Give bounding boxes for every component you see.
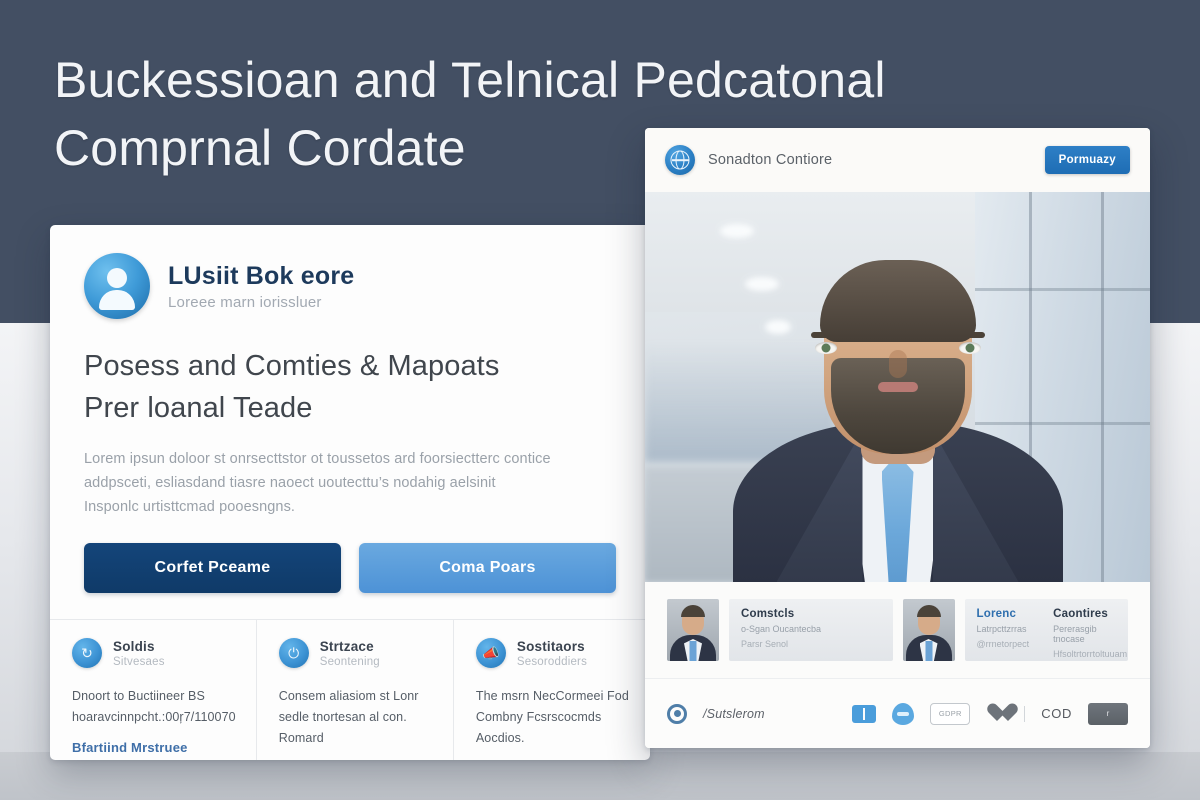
dark-button-icon[interactable]: r (1088, 703, 1128, 725)
card-body-line-2: addpsceti, esliasdand tiasre naoect uout… (84, 471, 616, 495)
feature-strip: ↻ Soldis Sitvesaes Dnoort to Buctiineer … (50, 619, 650, 760)
preview-cta-button[interactable]: Pormuazy (1045, 146, 1130, 174)
user-avatar-icon (84, 253, 150, 319)
feature-subtitle: Sitvesaes (113, 656, 165, 668)
thumbnail-line-2: @rrnetorpect (977, 639, 1030, 649)
feature-title: Soldis (113, 639, 165, 654)
feature-subtitle: Sesoroddiers (517, 656, 587, 668)
card-heading-line-2: Prer loanal Teade (84, 387, 616, 429)
thumbnail-title: Comstcls (741, 608, 881, 620)
profile-name: LUsiit Bok eore (168, 262, 354, 291)
thumbnail-line-1: Latrpcttzrras (977, 624, 1030, 634)
feature-text-line-2: Combny Fcsrscocmds Aocdios. (476, 707, 630, 749)
thumbnail-title: Lorenc (977, 608, 1030, 620)
primary-action-button[interactable]: Corfet Pceame (84, 543, 341, 593)
feature-title: Strtzace (320, 639, 380, 654)
page-stage: Buckessioan and Telnical Pedcatonal Comp… (0, 0, 1200, 800)
profile-header: LUsiit Bok eore Loreee marn iorissluer (84, 253, 616, 319)
power-circle-icon: ⏻ (279, 638, 309, 668)
left-content-card: LUsiit Bok eore Loreee marn iorissluer P… (50, 225, 650, 760)
preview-brand-label: Sonadton Contiore (708, 152, 832, 168)
feature-text-line-1: Dnoort to Buctiineer BS (72, 686, 236, 707)
preview-footer-bar: /Sutslerom GDPR COD r (645, 678, 1150, 748)
footer-divider (1024, 706, 1025, 722)
thumbnail-line-1: Pererasgib tnocase (1053, 624, 1127, 644)
card-heading-line-1: Posess and Comties & Mapoats (84, 345, 616, 387)
feature-text-line-2: sedle tnortesan al con. Romard (279, 707, 433, 749)
thumbnail-title: Caontires (1053, 608, 1127, 620)
preview-topbar: Sonadton Contiore Pormuazy (645, 128, 1150, 192)
businessman-portrait-photo (645, 192, 1150, 582)
location-pin-icon[interactable] (667, 704, 687, 724)
secondary-action-button[interactable]: Coma Poars (359, 543, 616, 593)
heart-icon[interactable] (986, 704, 1008, 724)
portrait-subject (733, 242, 1063, 582)
hero-heading-line-1: Buckessioan and Telnical Pedcatonal (54, 46, 1054, 114)
feature-item-soldis[interactable]: ↻ Soldis Sitvesaes Dnoort to Buctiineer … (50, 620, 256, 760)
feature-text: Dnoort to Buctiineer BS hoaravcinnpcht.:… (72, 686, 236, 728)
footer-location-label: /Sutslerom (703, 707, 765, 721)
profile-subtitle: Loreee marn iorissluer (168, 294, 354, 311)
thumbnail-line-2: Parsr Senol (741, 639, 881, 649)
drop-badge-icon[interactable] (892, 703, 914, 725)
chip-button-icon[interactable]: GDPR (930, 703, 970, 725)
thumbnail-info-card-1[interactable]: Comstcls o-Sgan Oucantecba Parsr Senol (729, 599, 893, 661)
book-icon[interactable] (852, 705, 876, 723)
cod-label: COD (1041, 706, 1072, 721)
feature-text-line-1: The msrn NecCormeei Fod (476, 686, 630, 707)
feature-text-line-2: hoaravcinnpcht.:00ŗ7/110070 (72, 707, 236, 728)
megaphone-circle-icon: 📣 (476, 638, 506, 668)
thumbnail-dual-left: Lorenc Latrpcttzrras @rrnetorpect (977, 608, 1030, 652)
person-thumbnail-2[interactable] (903, 599, 955, 661)
feature-subtitle: Seontening (320, 656, 380, 668)
card-heading: Posess and Comties & Mapoats Prer loanal… (84, 345, 616, 429)
feature-item-sostitaors[interactable]: 📣 Sostitaors Sesoroddiers The msrn NecCo… (453, 620, 650, 760)
thumbnail-dual-right: Caontires Pererasgib tnocase Hfsoltrtorr… (1053, 608, 1127, 652)
feature-text: Consem aliasiom st Lonr sedle tnortesan … (279, 686, 433, 749)
refresh-circle-icon: ↻ (72, 638, 102, 668)
card-body-line-3: Insponlc urtisttcmad pooesngns. (84, 495, 616, 519)
person-thumbnail-1[interactable] (667, 599, 719, 661)
card-action-row: Corfet Pceame Coma Poars (84, 543, 616, 593)
card-body-text: Lorem ipsun doloor st onrsecttstor ot to… (84, 447, 616, 519)
right-preview-card: Sonadton Contiore Pormuazy (645, 128, 1150, 748)
feature-title: Sostitaors (517, 639, 587, 654)
feature-item-strtzace[interactable]: ⏻ Strtzace Seontening Consem aliasiom st… (256, 620, 453, 760)
card-body-line-1: Lorem ipsun doloor st onrsecttstor ot to… (84, 447, 616, 471)
thumbnail-row: Comstcls o-Sgan Oucantecba Parsr Senol L… (645, 582, 1150, 678)
thumbnail-info-card-2[interactable]: Lorenc Latrpcttzrras @rrnetorpect Caonti… (965, 599, 1129, 661)
feature-link[interactable]: Bfartiind Mrstruee (72, 740, 236, 755)
thumbnail-line-2: Hfsoltrtorrtoltuuam (1053, 649, 1127, 659)
globe-icon (665, 145, 695, 175)
feature-text: The msrn NecCormeei Fod Combny Fcsrscocm… (476, 686, 630, 749)
thumbnail-line-1: o-Sgan Oucantecba (741, 624, 881, 634)
feature-text-line-1: Consem aliasiom st Lonr (279, 686, 433, 707)
